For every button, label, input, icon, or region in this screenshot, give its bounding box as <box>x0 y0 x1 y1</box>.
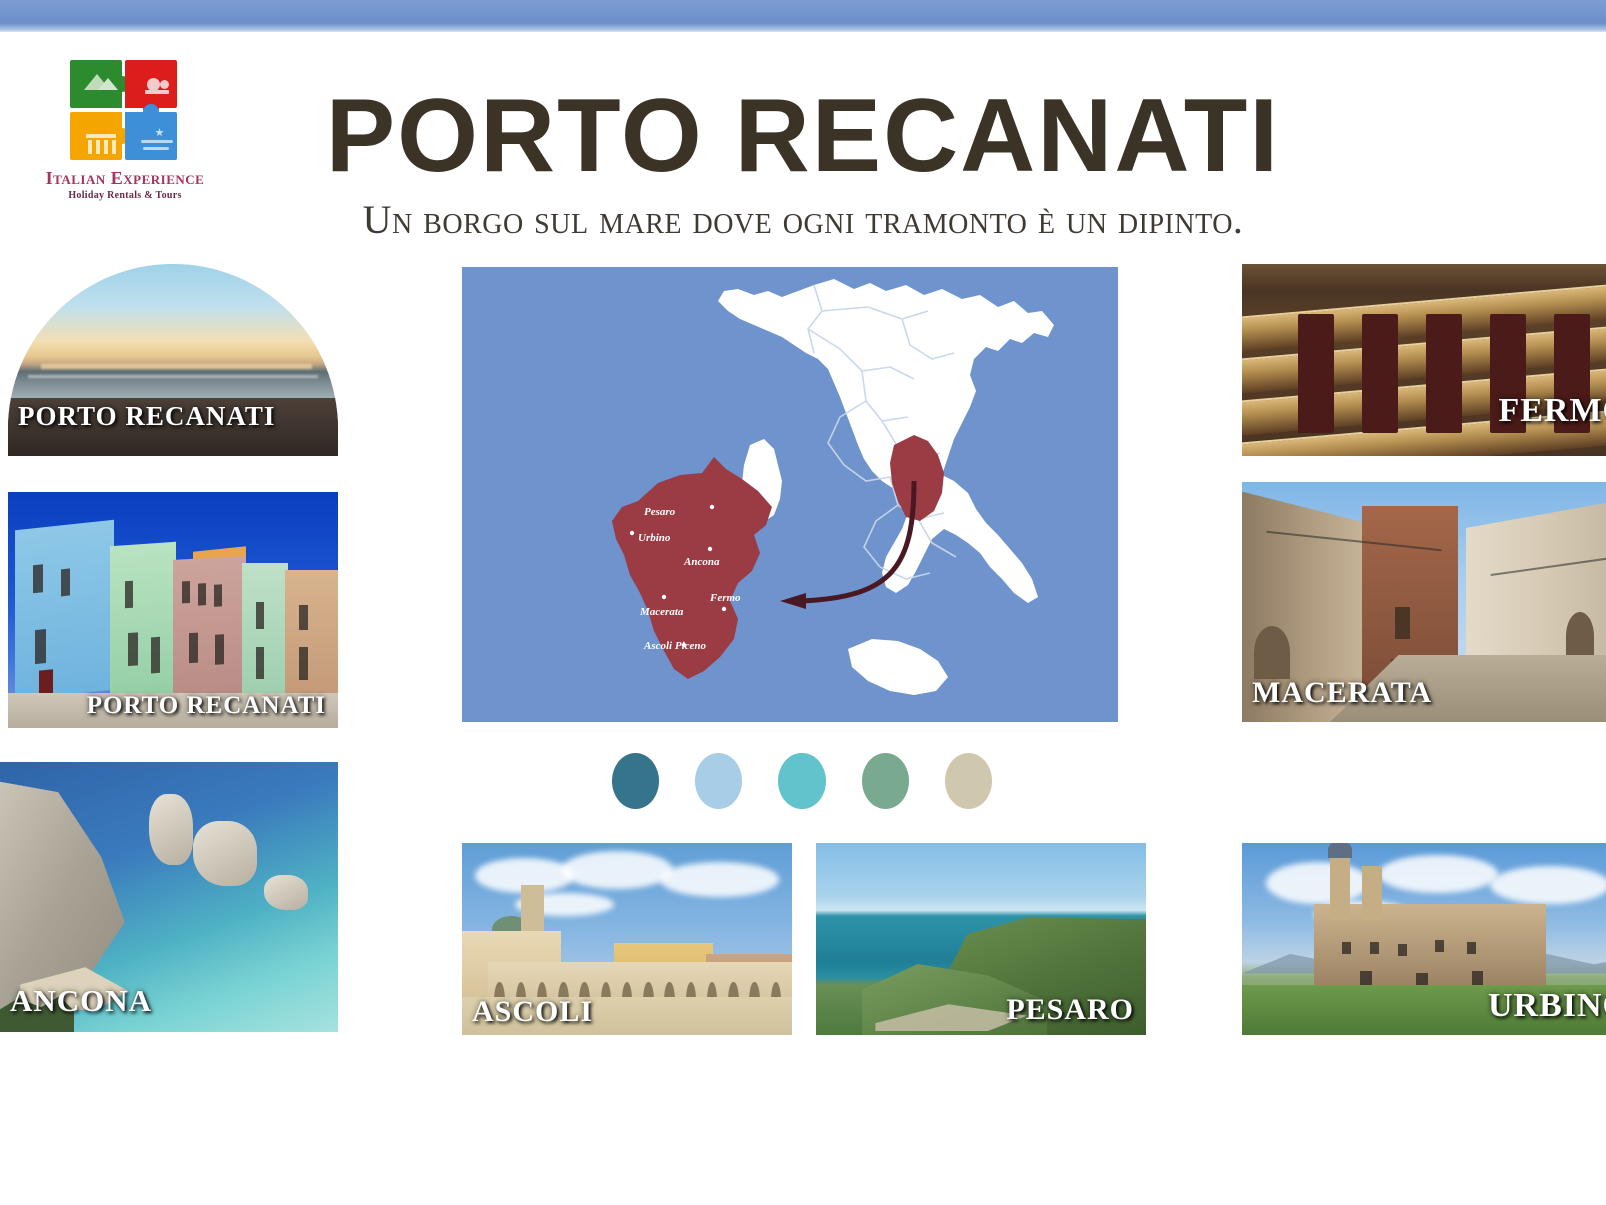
page-subtitle: Un borgo sul mare dove ogni tramonto è u… <box>0 200 1606 240</box>
sea-stack-2 <box>193 821 257 886</box>
city-dot-fermo <box>722 607 726 611</box>
tile-caption: ASCOLI <box>472 997 593 1027</box>
page-title: PORTO RECANATI <box>0 84 1606 188</box>
tile-porto-recanati-sunset[interactable]: PORTO RECANATI <box>8 264 338 456</box>
tile-ascoli-piazza[interactable]: ASCOLI <box>462 843 792 1035</box>
tile-fermo-theatre[interactable]: FERMO <box>1242 264 1606 456</box>
color-palette-swatches <box>612 753 992 809</box>
sea-glint <box>28 375 318 378</box>
swatch-light-blue[interactable] <box>695 753 742 809</box>
inset-label-ascoli-piceno: Ascoli Piceno <box>643 640 707 652</box>
sea-stack-3 <box>264 875 308 910</box>
city-dot-pesaro <box>710 505 714 509</box>
swatch-sage-green[interactable] <box>862 753 909 809</box>
swatch-dark-teal[interactable] <box>612 753 659 809</box>
map-graphic: Pesaro Urbino Ancona Fermo Macerata Asco… <box>462 267 1118 722</box>
house-green <box>110 542 176 698</box>
tile-pesaro-coast[interactable]: PESARO <box>816 843 1146 1035</box>
inset-label-urbino: Urbino <box>638 532 671 544</box>
sea-stack-1 <box>149 794 193 864</box>
inset-label-macerata: Macerata <box>639 606 684 618</box>
tile-caption: ANCONA <box>10 985 152 1016</box>
inset-label-ancona: Ancona <box>683 556 720 568</box>
swatch-turquoise[interactable] <box>778 753 825 809</box>
house-tan <box>285 570 338 695</box>
city-dot-macerata <box>662 595 666 599</box>
slide-root: Italian Experience Holiday Rentals & Tou… <box>0 0 1606 1205</box>
theatre-ceiling <box>1242 264 1606 291</box>
tile-caption: URBINO <box>1488 989 1606 1023</box>
swatch-beige[interactable] <box>945 753 992 809</box>
house-blue <box>15 520 114 700</box>
sicily <box>848 639 948 695</box>
house-mint <box>242 563 288 695</box>
sun-reflection <box>41 364 312 369</box>
locator-arrow-head <box>780 593 806 609</box>
tile-caption: PORTO RECANATI <box>87 693 326 718</box>
slide-header: Italian Experience Holiday Rentals & Tou… <box>0 32 1606 244</box>
italy-marche-locator-map[interactable]: Pesaro Urbino Ancona Fermo Macerata Asco… <box>462 267 1118 722</box>
tile-caption: MACERATA <box>1252 678 1432 708</box>
tile-ancona-coast[interactable]: ANCONA <box>0 762 338 1032</box>
tile-porto-recanati-houses[interactable]: PORTO RECANATI <box>8 492 338 728</box>
city-dot-urbino <box>630 531 634 535</box>
city-dot-ancona <box>708 547 712 551</box>
tile-caption: PESARO <box>1006 995 1134 1025</box>
house-pink <box>173 556 246 697</box>
italy-mainland <box>718 279 1054 603</box>
tile-macerata-street[interactable]: MACERATA <box>1242 482 1606 722</box>
inset-label-fermo: Fermo <box>709 592 741 604</box>
tile-caption: FERMO <box>1498 394 1606 428</box>
top-accent-bar <box>0 0 1606 32</box>
tile-caption: PORTO RECANATI <box>18 403 275 430</box>
inset-label-pesaro: Pesaro <box>644 506 676 518</box>
tile-urbino-palace[interactable]: URBINO <box>1242 843 1606 1035</box>
